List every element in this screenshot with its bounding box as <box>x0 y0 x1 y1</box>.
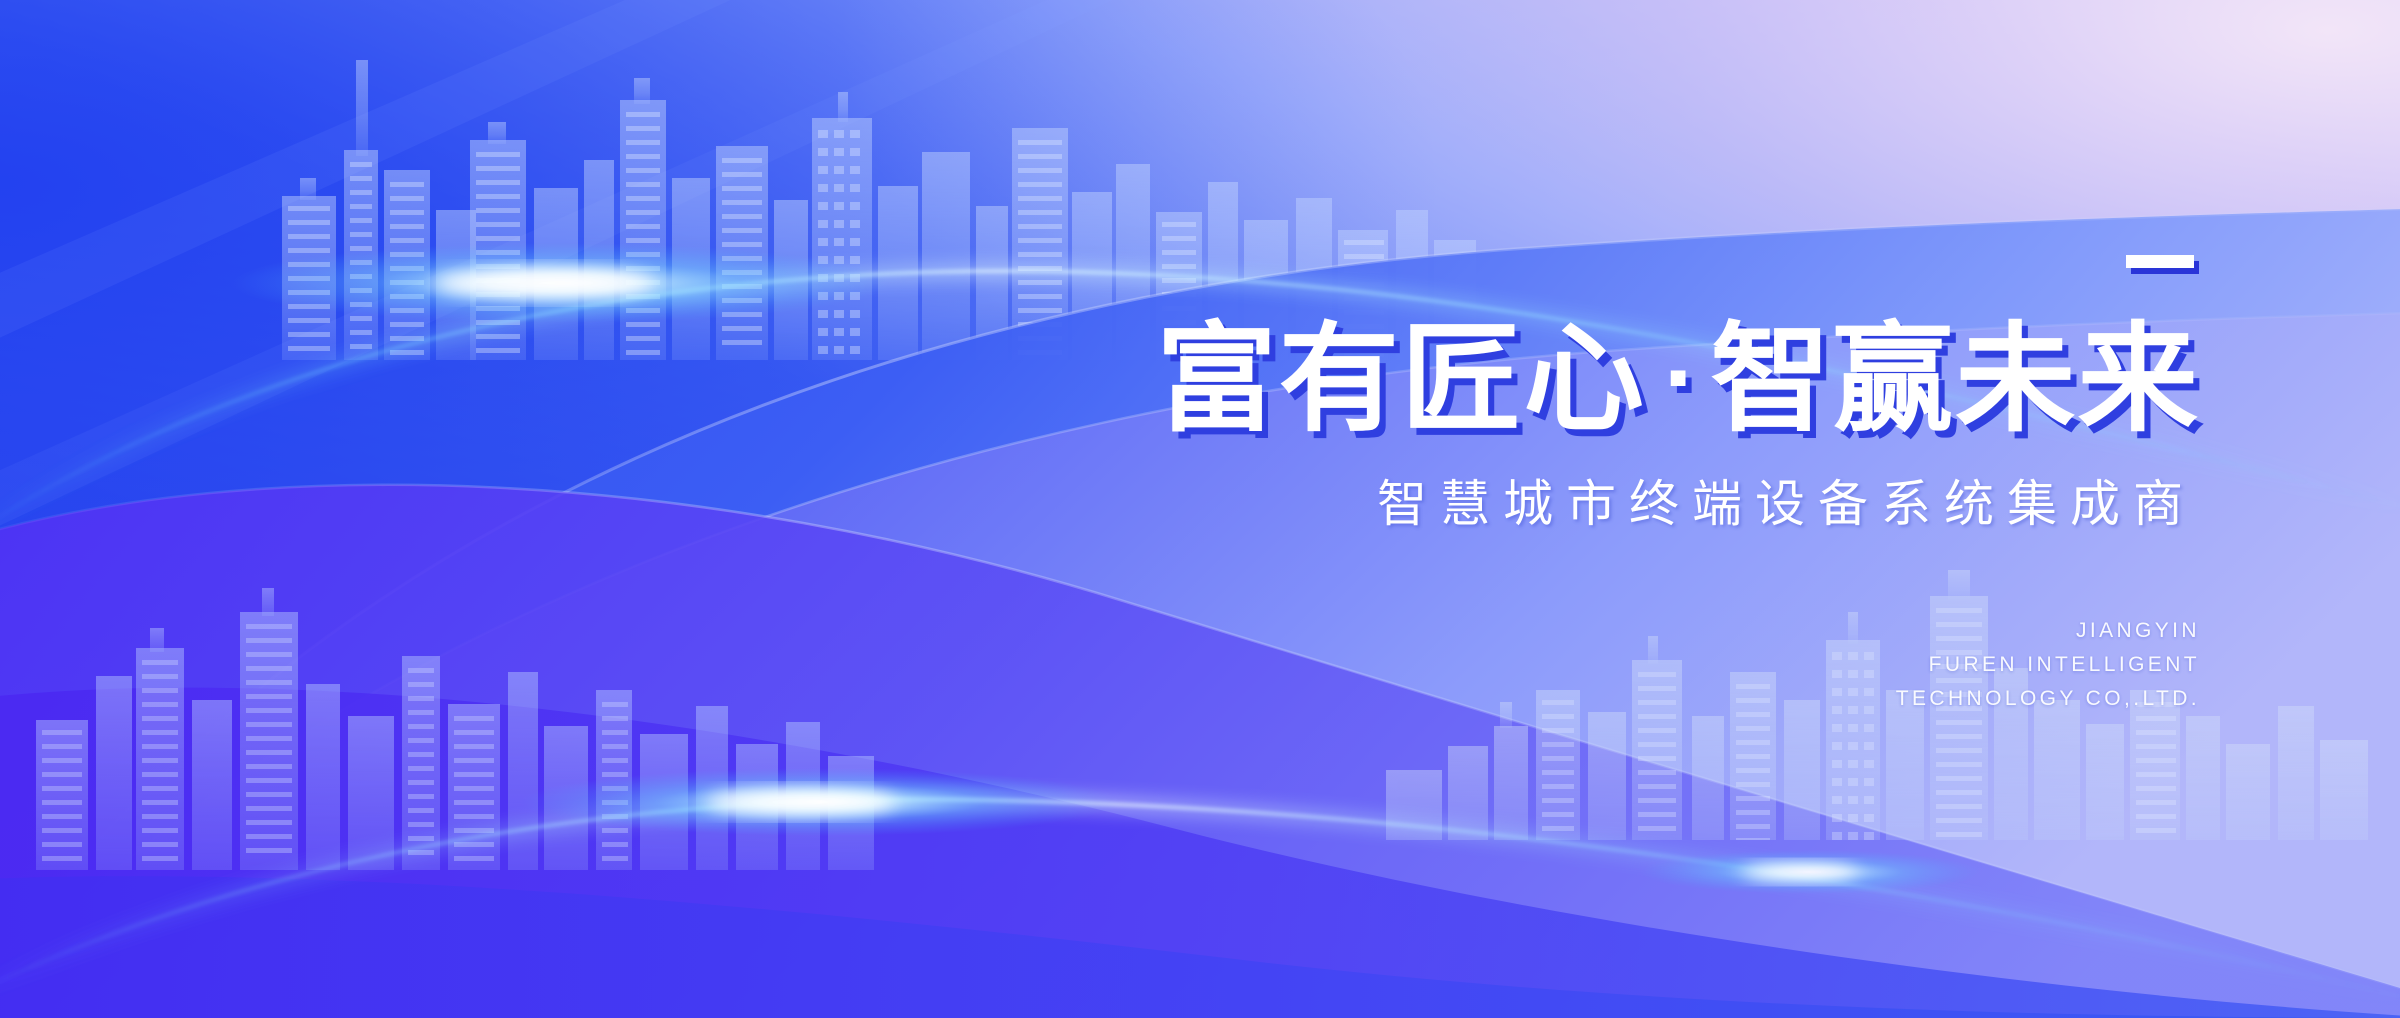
banner-canvas: 富有匠心·智赢未来 智慧城市终端设备系统集成商 JIANGYIN FUREN I… <box>0 0 2400 1018</box>
background-artwork <box>0 0 2400 1018</box>
